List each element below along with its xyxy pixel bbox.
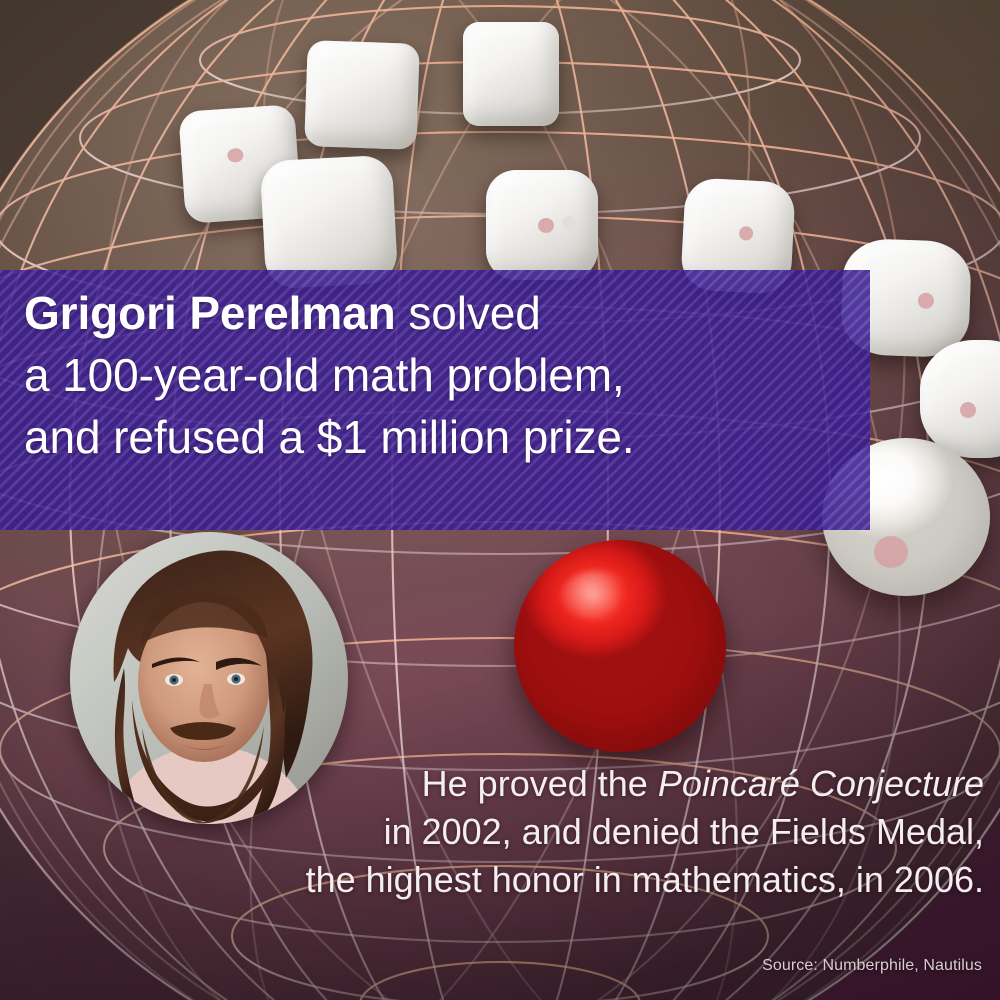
page-title: Grigori Perelman solved a 100-year-old m…: [24, 282, 990, 468]
source-credit: Source: Numberphile, Nautilus: [762, 957, 982, 975]
sphere-pip: [874, 536, 908, 568]
headline-line-3: and refused a $1 million prize.: [24, 406, 990, 468]
cube-shape: [463, 22, 559, 126]
cube-pip: [562, 216, 576, 230]
cube-shape: [486, 170, 598, 280]
cube-pip: [227, 148, 244, 163]
red-sphere: [514, 540, 726, 752]
cube-pip: [739, 226, 754, 241]
caption-line-2: in 2002, and denied the Fields Medal,: [124, 808, 984, 856]
headline-name: Grigori Perelman: [24, 287, 396, 339]
cube-pip: [538, 218, 554, 233]
caption-line-1-prefix: He proved the: [422, 763, 658, 804]
headline-line-1-rest: solved: [396, 287, 541, 339]
caption-text: He proved the Poincaré Conjecture in 200…: [124, 760, 984, 904]
cube-shape: [304, 40, 420, 150]
poincare-conjecture-term: Poincaré Conjecture: [658, 763, 984, 804]
caption-line-3: the highest honor in mathematics, in 200…: [124, 856, 984, 904]
headline-line-2: a 100-year-old math problem,: [24, 344, 990, 406]
infographic-canvas: Grigori Perelman solved a 100-year-old m…: [0, 0, 1000, 1000]
caption-line-1: He proved the Poincaré Conjecture: [124, 760, 984, 808]
headline-line-1: Grigori Perelman solved: [24, 282, 990, 344]
